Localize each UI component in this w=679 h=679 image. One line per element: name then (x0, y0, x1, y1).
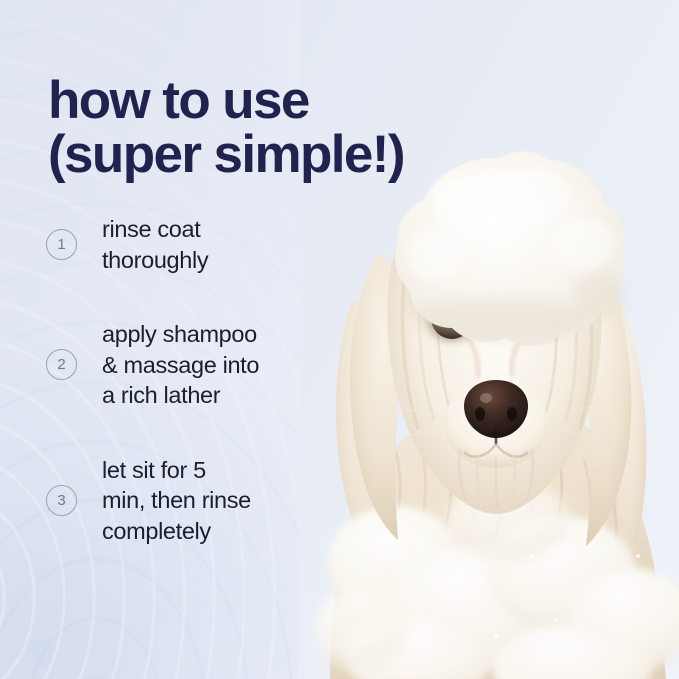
step-number-badge: 3 (46, 485, 77, 516)
list-item: 1 rinse coat thoroughly (46, 214, 336, 275)
headline-line-2: (super simple!) (48, 128, 518, 183)
page-title: how to use (super simple!) (48, 74, 518, 183)
step-text: let sit for 5 min, then rinse completely (102, 455, 251, 547)
step-text-line: min, then rinse (102, 485, 251, 516)
step-text-line: apply shampoo (102, 319, 259, 350)
how-to-use-poster: how to use (super simple!) 1 rinse coat … (0, 0, 679, 679)
list-item: 2 apply shampoo & massage into a rich la… (46, 319, 336, 411)
step-text-line: completely (102, 516, 251, 547)
step-number: 2 (57, 356, 65, 373)
step-text-line: & massage into (102, 350, 259, 381)
step-text-line: thoroughly (102, 245, 208, 276)
step-text: apply shampoo & massage into a rich lath… (102, 319, 259, 411)
step-number-badge: 1 (46, 229, 77, 260)
step-text-line: rinse coat (102, 214, 208, 245)
list-item: 3 let sit for 5 min, then rinse complete… (46, 455, 336, 547)
step-number: 1 (57, 236, 65, 253)
step-text: rinse coat thoroughly (102, 214, 208, 275)
steps-list: 1 rinse coat thoroughly 2 apply shampoo … (46, 214, 336, 546)
step-number-badge: 2 (46, 349, 77, 380)
step-number: 3 (57, 492, 65, 509)
headline-line-1: how to use (48, 74, 518, 129)
step-text-line: a rich lather (102, 380, 259, 411)
step-text-line: let sit for 5 (102, 455, 251, 486)
